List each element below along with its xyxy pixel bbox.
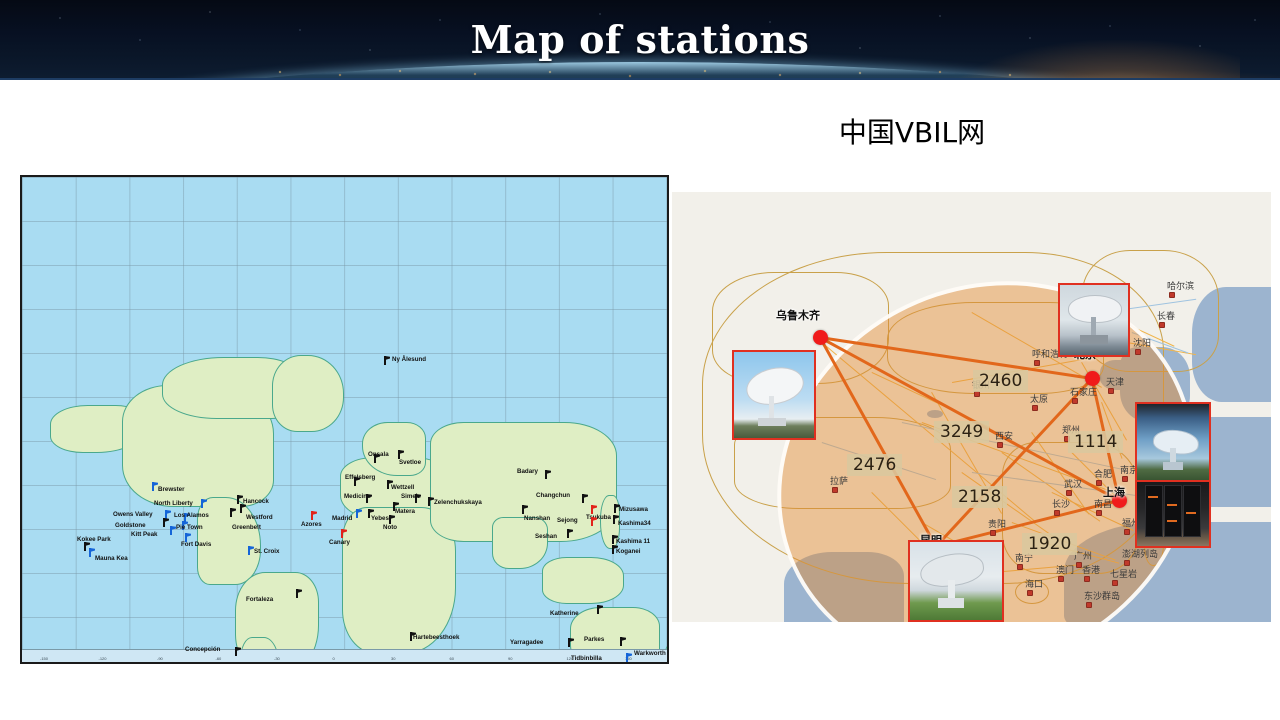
antenna-icon	[228, 508, 235, 517]
longitude-tick: -150	[40, 656, 48, 661]
city-dot-icon	[1017, 564, 1023, 570]
antenna-icon	[161, 518, 168, 527]
antenna-icon	[611, 515, 618, 524]
antenna-icon	[387, 515, 394, 524]
station-label: Goldstone	[115, 523, 146, 529]
landmass-se-asia	[542, 557, 624, 604]
longitude-tick: 30	[391, 656, 395, 661]
baseline-distance-label: 2158	[952, 486, 1007, 508]
beijing-telescope-photo	[1058, 283, 1130, 357]
equipment-rack	[1164, 485, 1182, 537]
shanghai-telescope-photo	[1135, 402, 1211, 484]
antenna-icon	[150, 482, 157, 491]
city-dot-icon	[1169, 292, 1175, 298]
city-label: 太原	[1030, 392, 1048, 405]
station-label: Yarragadee	[510, 640, 543, 646]
station-label: Greenbelt	[232, 525, 261, 531]
city-dot-icon	[997, 442, 1003, 448]
antenna-icon	[618, 637, 625, 646]
city-label: 长沙	[1052, 497, 1070, 510]
city-label: 哈尔滨	[1167, 279, 1194, 292]
antenna-icon	[87, 548, 94, 557]
city-label: 合肥	[1094, 467, 1112, 480]
city-label: 武汉	[1064, 477, 1082, 490]
longitude-tick: 0	[333, 656, 335, 661]
station-label: Kashima 11	[616, 539, 650, 545]
dish-base	[758, 418, 786, 426]
station-label: Ny Ålesund	[392, 357, 426, 363]
station-label: Sejong	[557, 518, 578, 524]
antenna-icon	[246, 546, 253, 555]
landmass-india	[492, 517, 548, 569]
antenna-icon	[235, 495, 242, 504]
city-dot-icon	[1096, 510, 1102, 516]
rack-status-led	[1167, 520, 1177, 522]
station-label: Pie Town	[176, 525, 203, 531]
station-label: Westford	[246, 515, 273, 521]
kunming-telescope-photo	[908, 540, 1004, 622]
equipment-rack	[1145, 485, 1163, 537]
city-dot-icon	[1124, 529, 1130, 535]
city-dot-icon	[832, 487, 838, 493]
station-label: Badary	[517, 469, 538, 475]
city-dot-icon	[1124, 560, 1130, 566]
longitude-tick: -120	[99, 656, 107, 661]
dish-base	[938, 598, 964, 608]
longitude-tick: -90	[157, 656, 163, 661]
city-label: 长春	[1157, 309, 1175, 322]
city-label: 澎湖列岛	[1122, 547, 1158, 560]
station-label: Fortaleza	[246, 597, 273, 603]
city-label: 香港	[1082, 563, 1100, 576]
slide-header-banner: Map of stations	[0, 0, 1280, 80]
station-label: Azores	[301, 522, 322, 528]
city-label: 贵阳	[988, 517, 1006, 530]
city-label: 拉萨	[830, 474, 848, 487]
longitude-tick: -30	[274, 656, 280, 661]
urumqi-telescope-photo	[732, 350, 816, 440]
rack-status-led	[1148, 496, 1158, 498]
station-label: Koganei	[616, 549, 640, 555]
station-label: Madrid	[332, 516, 352, 522]
city-dot-icon	[1122, 476, 1128, 482]
station-label: Seshan	[535, 534, 557, 540]
antenna-icon	[233, 647, 240, 656]
station-label: Kitt Peak	[131, 532, 157, 538]
longitude-tick: -60	[216, 656, 222, 661]
baseline-distance-label: 1920	[1022, 533, 1077, 555]
station-label: Svetloe	[399, 460, 421, 466]
station-label: Canary	[329, 540, 350, 546]
city-dot-icon	[1108, 388, 1114, 394]
city-label: 澳门	[1056, 563, 1074, 576]
antenna-icon	[624, 653, 631, 662]
station-label: Parkes	[584, 637, 604, 643]
rack-status-led	[1186, 512, 1196, 514]
city-dot-icon	[1032, 405, 1038, 411]
antenna-icon	[580, 494, 587, 503]
antenna-icon	[520, 505, 527, 514]
antenna-icon	[294, 589, 301, 598]
city-label: 七星岩	[1110, 567, 1137, 580]
dish-base	[1163, 462, 1183, 470]
vlbi-station-dot	[813, 330, 828, 345]
baseline-distance-label: 1114	[1068, 431, 1123, 453]
baseline-distance-label: 3249	[934, 421, 989, 443]
station-label: Noto	[383, 525, 397, 531]
station-label: Kashima34	[618, 521, 651, 527]
station-label: Mizusawa	[619, 507, 648, 513]
city-dot-icon	[1135, 349, 1141, 355]
antenna-icon	[168, 526, 175, 535]
station-label: Changchun	[536, 493, 570, 499]
page-title: Map of stations	[0, 0, 1280, 78]
antenna-icon	[565, 529, 572, 538]
city-dot-icon	[1027, 590, 1033, 596]
antenna-icon	[426, 497, 433, 506]
city-label: 天津	[1106, 375, 1124, 388]
station-label: Mauna Kea	[95, 556, 128, 562]
station-label: Medicina	[344, 494, 370, 500]
station-label: Fort Davis	[181, 542, 211, 548]
antenna-icon	[354, 509, 361, 518]
city-dot-icon	[1112, 580, 1118, 586]
antenna-icon	[543, 470, 550, 479]
station-label: Nanshan	[524, 516, 550, 522]
city-dot-icon	[1096, 480, 1102, 486]
city-dot-icon	[1072, 398, 1078, 404]
equipment-rack	[1183, 485, 1201, 537]
station-label: Katherine	[550, 611, 579, 617]
city-dot-icon	[1054, 510, 1060, 516]
station-label: North Liberty	[154, 501, 193, 507]
station-label: St. Croix	[254, 549, 279, 555]
baseline-distance-label: 2460	[973, 370, 1028, 392]
longitude-tick: 60	[450, 656, 454, 661]
antenna-icon	[199, 499, 206, 508]
china-vlbi-network-map: 哈尔滨长春沈阳呼和浩特天津银川石家庄太原郑州西安合肥南京武汉南昌长沙贵阳拉萨福州…	[672, 192, 1271, 622]
station-label: Warkworth	[634, 651, 666, 657]
station-label: Tidbinbilla	[571, 656, 602, 662]
shanghai-rack-photo	[1135, 480, 1211, 548]
city-label: 西安	[995, 429, 1013, 442]
antenna-icon	[382, 356, 389, 365]
city-dot-icon	[1159, 322, 1165, 328]
antenna-icon	[566, 638, 573, 647]
antenna-icon	[309, 511, 316, 520]
city-label: 海口	[1025, 577, 1043, 590]
station-label: Kokee Park	[77, 537, 111, 543]
vlbi-station-label: 乌鲁木齐	[776, 307, 820, 323]
city-label: 石家庄	[1070, 385, 1097, 398]
baseline-distance-label: 2476	[847, 454, 902, 476]
station-label: Zelenchukskaya	[434, 500, 482, 506]
antenna-icon	[238, 504, 245, 513]
antenna-icon	[589, 505, 596, 514]
city-dot-icon	[990, 530, 996, 536]
city-dot-icon	[1058, 576, 1064, 582]
slide-root: Map of stations -150-120-90-60-300306090…	[0, 0, 1280, 720]
city-label: 沈阳	[1133, 336, 1151, 349]
station-label: Owens Valley	[113, 512, 153, 518]
antenna-icon	[339, 529, 346, 538]
station-label: Brewster	[158, 487, 184, 493]
station-label: Wettzell	[391, 485, 414, 491]
station-label: Onsala	[368, 452, 389, 458]
station-label: Concepción	[185, 647, 220, 653]
vlbi-station-dot	[1085, 371, 1100, 386]
station-label: Hancock	[243, 499, 269, 505]
dish-base	[1080, 335, 1108, 344]
landmass-greenland	[272, 355, 344, 432]
station-label: Hartebeesthoek	[413, 635, 459, 641]
city-dot-icon	[1084, 576, 1090, 582]
antenna-icon	[589, 517, 596, 526]
antenna-icon	[396, 450, 403, 459]
antenna-icon	[595, 605, 602, 614]
city-dot-icon	[1034, 360, 1040, 366]
station-label: Los Alamos	[174, 513, 209, 519]
longitude-tick: 90	[508, 656, 512, 661]
city-dot-icon	[1086, 602, 1092, 608]
city-label: 东沙群岛	[1084, 589, 1120, 602]
station-label: Effelsberg	[345, 475, 375, 481]
antenna-icon	[612, 504, 619, 513]
vlbi-station-label: 上海	[1103, 484, 1125, 500]
city-dot-icon	[1066, 490, 1072, 496]
rack-status-led	[1167, 504, 1177, 506]
station-label: Simeiz	[401, 494, 421, 500]
china-map-title: 中国VBIL网	[672, 110, 1152, 152]
station-label: Matera	[395, 509, 415, 515]
world-station-map: -150-120-90-60-300306090120150 Ny Ålesun…	[20, 175, 669, 664]
